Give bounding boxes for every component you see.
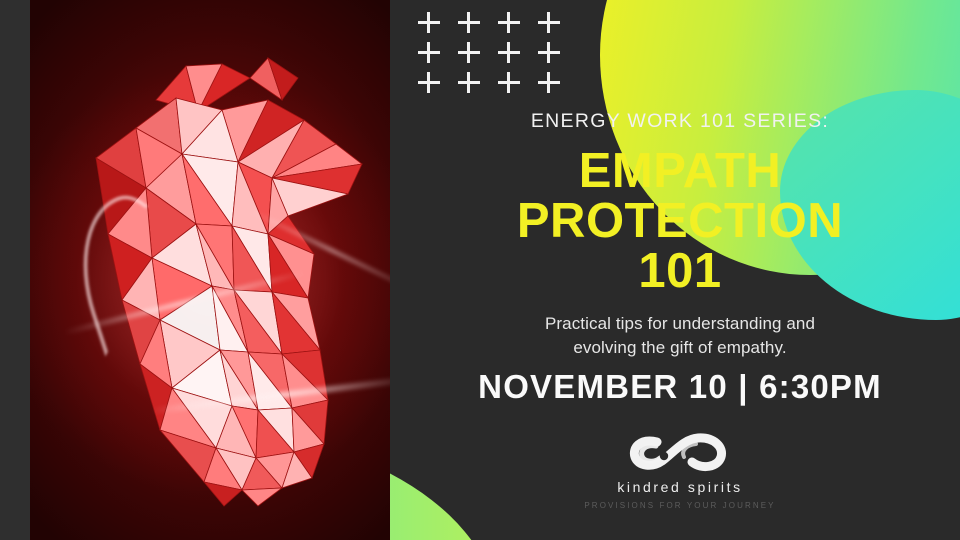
headline-line-2: PROTECTION <box>400 196 960 246</box>
plus-icon <box>536 8 576 38</box>
plus-icon <box>536 38 576 68</box>
plus-icon <box>416 8 456 38</box>
logo-tagline: PROVISIONS FOR YOUR JOURNEY <box>400 501 960 510</box>
plus-icon <box>456 38 496 68</box>
description-line-2: evolving the gift of empathy. <box>400 336 960 360</box>
plus-icon <box>456 68 496 98</box>
event-poster: ENERGY WORK 101 SERIES: EMPATH PROTECTIO… <box>0 0 960 540</box>
plus-icon <box>496 38 536 68</box>
headline-line-3: 101 <box>400 246 960 296</box>
heart-artwork-panel <box>30 0 390 540</box>
plus-icon <box>536 68 576 98</box>
plus-icon <box>416 68 456 98</box>
logo-notch <box>660 452 668 460</box>
plus-decoration-grid <box>416 8 576 98</box>
poster-description: Practical tips for understanding and evo… <box>400 312 960 360</box>
headline-line-1: EMPATH <box>400 146 960 196</box>
infinity-logo-icon <box>626 430 734 476</box>
series-eyebrow: ENERGY WORK 101 SERIES: <box>400 110 960 133</box>
plus-icon <box>456 8 496 38</box>
brand-logo: kindred spirits PROVISIONS FOR YOUR JOUR… <box>400 430 960 510</box>
poster-content-column: ENERGY WORK 101 SERIES: EMPATH PROTECTIO… <box>400 0 960 540</box>
event-datetime: NOVEMBER 10 | 6:30PM <box>400 368 960 406</box>
logo-wordmark: kindred spirits <box>400 479 960 495</box>
plus-icon <box>496 8 536 38</box>
plus-icon <box>496 68 536 98</box>
poster-headline: EMPATH PROTECTION 101 <box>400 146 960 296</box>
description-line-1: Practical tips for understanding and <box>400 312 960 336</box>
plus-icon <box>416 38 456 68</box>
left-dark-strip <box>0 0 30 540</box>
